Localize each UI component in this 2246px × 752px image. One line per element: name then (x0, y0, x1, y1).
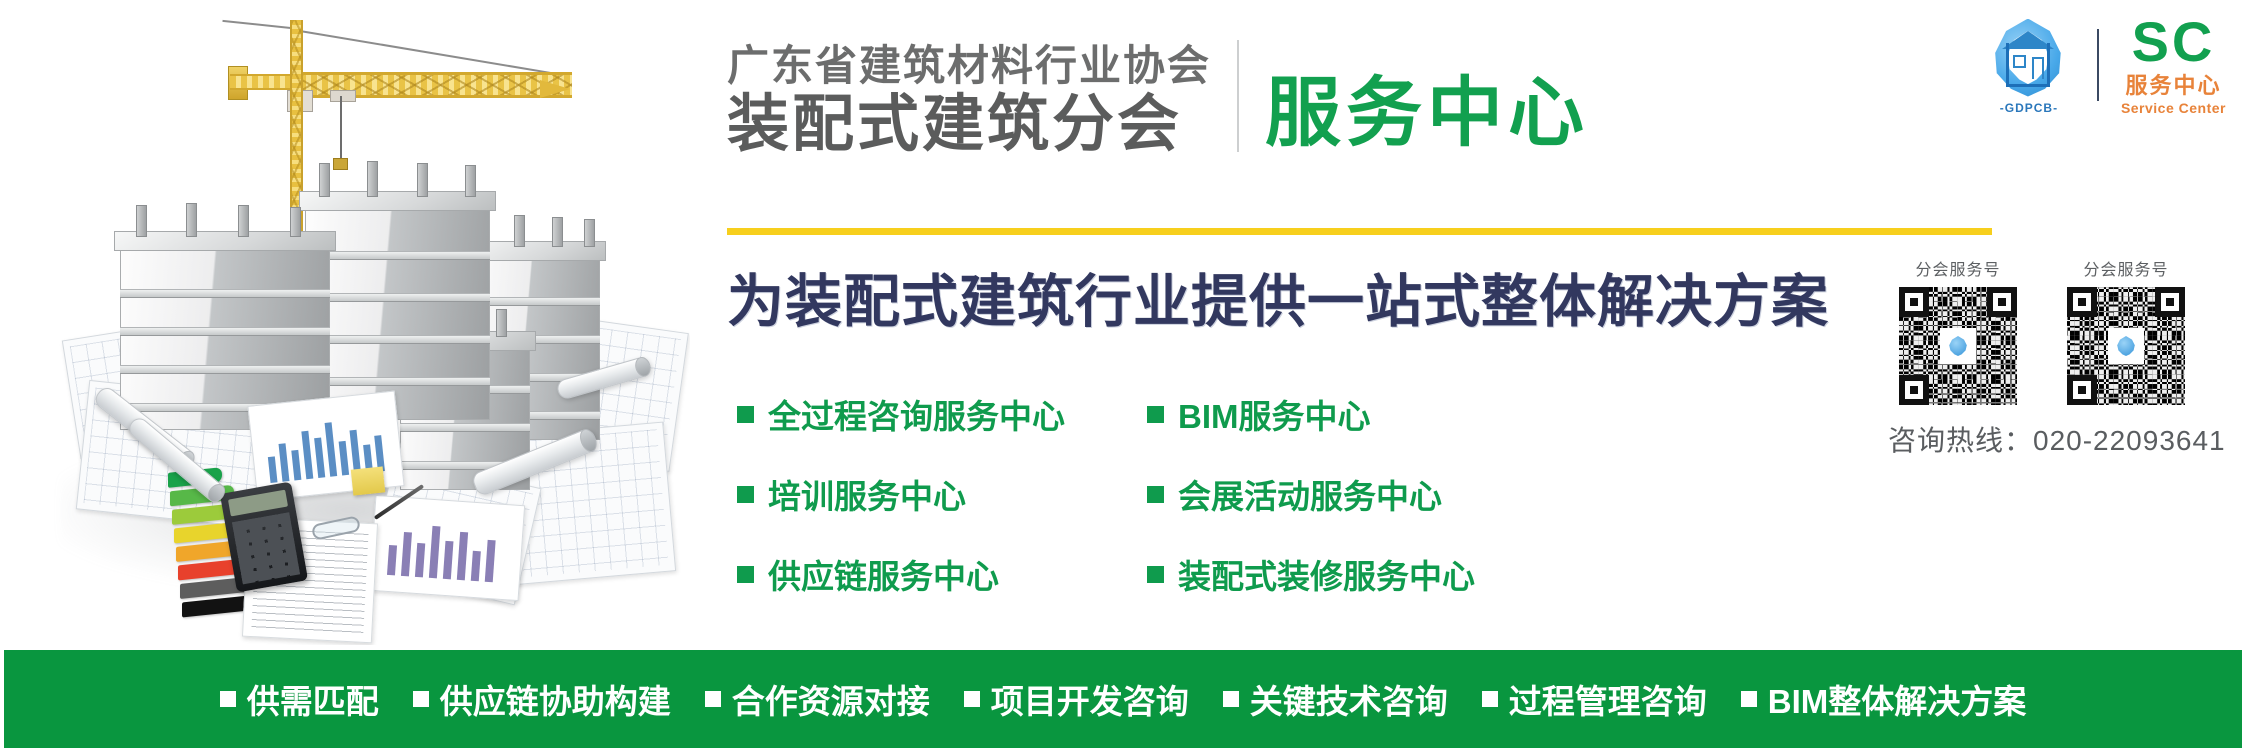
hero-construction-image (0, 0, 690, 645)
chart-bar (429, 526, 441, 578)
bar-item-key-technology: 关键技术咨询 (1223, 675, 1448, 723)
rebar-column (584, 219, 595, 247)
floor-slab (120, 289, 330, 298)
service-item-training: 培训服务中心 (737, 470, 1147, 518)
qr-item: 分会服务号 (2056, 256, 2196, 405)
service-label: BIM服务中心 (1178, 390, 1371, 438)
calculator-display (228, 490, 288, 517)
rebar-column (417, 163, 428, 197)
bullet-square-icon (705, 691, 721, 707)
sticky-note (351, 466, 386, 495)
crane-hook-cable (340, 96, 342, 160)
floor-slab (305, 377, 490, 386)
bar-item-label: BIM整体解决方案 (1768, 675, 2027, 723)
bullet-square-icon (737, 566, 754, 583)
qr-center-logo-icon (2108, 328, 2144, 364)
qr-finder-icon (1899, 375, 1929, 405)
gdpcb-wordmark: -GDPCB- (1983, 101, 2075, 115)
qr-finder-icon (2155, 287, 2185, 317)
promotional-banner: 广东省建筑材料行业协会 装配式建筑分会 服务中心 为装配式建筑行业提供一站式整体… (0, 0, 2246, 752)
qr-center-logo-icon (1940, 328, 1976, 364)
bar-item-label: 项目开发咨询 (991, 675, 1189, 723)
chart-bar (279, 443, 290, 482)
bar-item-label: 合作资源对接 (732, 675, 930, 723)
qr-row: 分会服务号 分会服务号 (1888, 256, 2218, 405)
rebar-column (186, 203, 197, 237)
service-item-supply-chain: 供应链服务中心 (737, 550, 1147, 598)
bullet-square-icon (1147, 406, 1164, 423)
headline-divider (1237, 40, 1239, 152)
floor-slab (305, 335, 490, 344)
sc-abbrev: SC (2132, 14, 2216, 70)
qr-contact-block: 分会服务号 分会服务号 (1888, 256, 2218, 459)
rebar-column (552, 217, 563, 247)
bullet-square-icon (1482, 691, 1498, 707)
service-item-full-process-consulting: 全过程咨询服务中心 (737, 390, 1147, 438)
qr-caption: 分会服务号 (2056, 256, 2196, 280)
bar-item-label: 关键技术咨询 (1250, 675, 1448, 723)
gdpcb-logo-icon: -GDPCB- (1983, 17, 2075, 113)
chart-bar (387, 545, 397, 575)
chart-bar (314, 437, 325, 478)
crane-trolley (330, 90, 356, 102)
bullet-square-icon (1147, 566, 1164, 583)
chart-bar (485, 540, 496, 582)
service-label: 会展活动服务中心 (1178, 470, 1442, 518)
content-panel: 广东省建筑材料行业协会 装配式建筑分会 服务中心 为装配式建筑行业提供一站式整体… (690, 0, 2246, 645)
floor-slab (305, 293, 490, 302)
chart-bar (291, 450, 301, 481)
rebar-column (514, 215, 525, 247)
chart-bar (401, 532, 412, 576)
chart-bar (325, 422, 338, 476)
floor-slab (305, 251, 490, 260)
qr-item: 分会服务号 (1888, 256, 2028, 405)
chart-bar (301, 431, 313, 479)
rebar-column (238, 205, 249, 237)
sc-chinese-label: 服务中心 (2125, 75, 2221, 97)
service-label: 供应链服务中心 (768, 550, 999, 598)
gold-divider-rule (727, 228, 1992, 235)
sc-english-label: Service Center (2121, 101, 2226, 115)
association-line-1: 广东省建筑材料行业协会 (727, 45, 1211, 87)
association-name: 广东省建筑材料行业协会 装配式建筑分会 (727, 45, 1211, 156)
house-window-icon (2013, 55, 2026, 68)
building-roof-slab (114, 231, 336, 251)
bar-item-project-development: 项目开发咨询 (964, 675, 1189, 723)
chart-bar (415, 543, 425, 577)
crane-jib-tip (540, 80, 570, 98)
qr-finder-icon (1899, 287, 1929, 317)
qr-finder-icon (2067, 375, 2097, 405)
bar-item-label: 供应链协助构建 (440, 675, 671, 723)
bullet-square-icon (964, 691, 980, 707)
bottom-service-bar: 供需匹配 供应链协助构建 合作资源对接 项目开发咨询 关键技术咨询 过程管理咨询… (4, 650, 2242, 748)
bullet-square-icon (1147, 486, 1164, 503)
bullet-square-icon (1741, 691, 1757, 707)
bullet-square-icon (413, 691, 429, 707)
service-label: 装配式装修服务中心 (1178, 550, 1475, 598)
chart-bar (268, 456, 278, 483)
logo-divider (2097, 29, 2099, 101)
bar-item-process-management: 过程管理咨询 (1482, 675, 1707, 723)
headline-group: 广东省建筑材料行业协会 装配式建筑分会 服务中心 (727, 40, 1589, 156)
association-line-2: 装配式建筑分会 (727, 94, 1211, 156)
service-label: 培训服务中心 (768, 470, 966, 518)
bar-item-label: 过程管理咨询 (1509, 675, 1707, 723)
page-title: 为装配式建筑行业提供一站式整体解决方案 (727, 256, 1829, 338)
service-item-exhibition: 会展活动服务中心 (1147, 470, 1557, 518)
sc-logo: SC 服务中心 Service Center (2121, 14, 2226, 115)
bar-item-bim-solution: BIM整体解决方案 (1741, 675, 2027, 723)
floor-slab (400, 423, 530, 432)
bullet-square-icon (737, 486, 754, 503)
bullet-square-icon (1223, 691, 1239, 707)
service-label: 全过程咨询服务中心 (768, 390, 1065, 438)
rebar-column (496, 309, 507, 337)
bar-item-supply-demand-matching: 供需匹配 (220, 675, 379, 723)
qr-finder-icon (1987, 287, 2017, 317)
hotline-text: 咨询热线：020-22093641 (1888, 419, 2218, 459)
rebar-column (367, 161, 378, 197)
crane-hook (333, 158, 348, 170)
qr-code-image-1[interactable] (1899, 287, 2017, 405)
bar-item-partner-resources: 合作资源对接 (705, 675, 930, 723)
bar-item-label: 供需匹配 (247, 675, 379, 723)
calculator-keys (232, 512, 300, 584)
chart-bar (350, 430, 362, 474)
house-door-icon (2032, 57, 2044, 79)
service-list: 全过程咨询服务中心 BIM服务中心 培训服务中心 会展活动服务中心 供应链服务中… (737, 390, 1837, 598)
qr-finder-icon (2067, 287, 2097, 317)
chart-bar (457, 532, 468, 580)
bullet-square-icon (220, 691, 236, 707)
floor-slab (120, 365, 330, 374)
chart-bar (471, 551, 481, 581)
bar-chart-printout (369, 495, 525, 601)
qr-caption: 分会服务号 (1888, 256, 2028, 280)
chart-bar (339, 441, 350, 476)
chart-bar (443, 541, 454, 579)
rebar-column (136, 205, 147, 237)
service-center-title: 服务中心 (1265, 76, 1589, 156)
rebar-column (319, 163, 330, 197)
rebar-column (465, 165, 476, 197)
floor-slab (120, 327, 330, 336)
service-item-prefab-decoration: 装配式装修服务中心 (1147, 550, 1557, 598)
logo-cluster: -GDPCB- SC 服务中心 Service Center (1983, 14, 2226, 115)
qr-code-image-2[interactable] (2067, 287, 2185, 405)
bullet-square-icon (737, 406, 754, 423)
rebar-column (290, 207, 301, 237)
bar-item-supply-chain-build: 供应链协助构建 (413, 675, 671, 723)
service-item-bim: BIM服务中心 (1147, 390, 1557, 438)
